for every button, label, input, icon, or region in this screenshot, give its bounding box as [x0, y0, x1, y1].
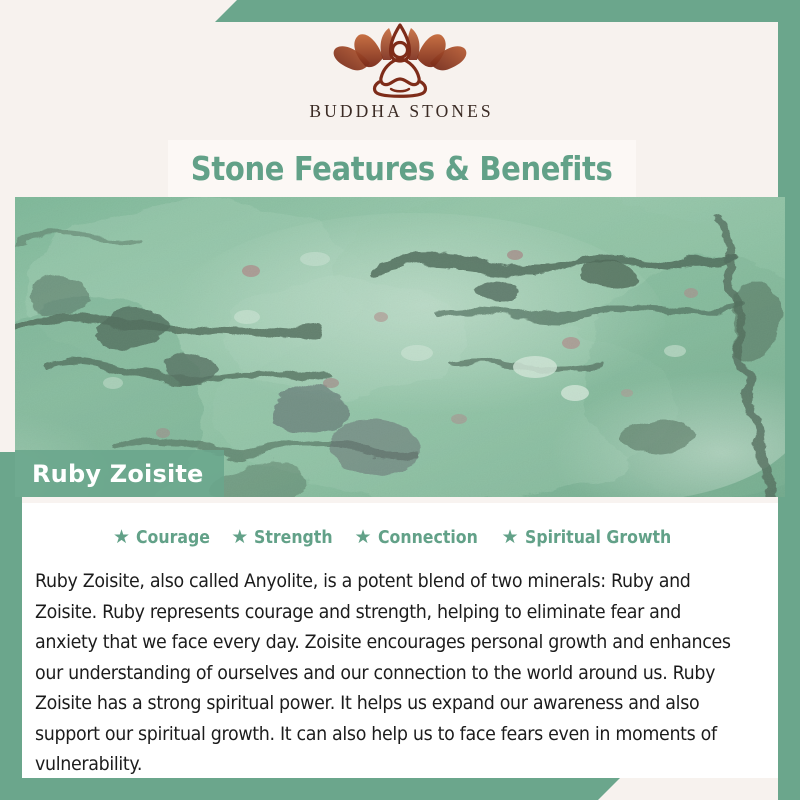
star-icon: ★ [113, 528, 130, 547]
benefit-label: Connection [378, 528, 478, 548]
benefit-item-strength: ★ Strength [231, 528, 341, 548]
decorative-frame-top [215, 0, 800, 22]
benefit-item-courage: ★ Courage [113, 528, 218, 548]
brand-logo-block: BUDDHA STONES [0, 22, 800, 140]
brand-wordmark: BUDDHA STONES [306, 101, 493, 122]
benefits-row: ★ Courage ★ Strength ★ Connection ★ Spir… [22, 528, 778, 548]
stone-name-tag: Ruby Zoisite [15, 450, 224, 497]
poster-canvas: BUDDHA STONES Stone Features & Benefits [0, 0, 800, 800]
benefit-label: Courage [136, 528, 210, 548]
title-banner: Stone Features & Benefits [168, 140, 636, 197]
stone-name-label: Ruby Zoisite [32, 460, 204, 488]
decorative-frame-left [0, 452, 22, 800]
benefit-item-spiritual-growth: ★ Spiritual Growth [501, 528, 687, 548]
star-icon: ★ [231, 528, 248, 547]
benefit-label: Strength [254, 528, 333, 548]
star-icon: ★ [355, 528, 372, 547]
star-icon: ★ [501, 528, 518, 547]
benefit-label: Spiritual Growth [525, 528, 671, 548]
benefit-item-connection: ★ Connection [355, 528, 489, 548]
decorative-frame-bottom [0, 778, 620, 800]
stone-description: Ruby Zoisite, also called Anyolite, is a… [35, 567, 740, 781]
content-panel: ★ Courage ★ Strength ★ Connection ★ Spir… [22, 497, 778, 778]
lotus-meditation-figure-icon [321, 22, 479, 98]
page-title: Stone Features & Benefits [191, 149, 613, 188]
panel-top-strip [22, 497, 778, 503]
